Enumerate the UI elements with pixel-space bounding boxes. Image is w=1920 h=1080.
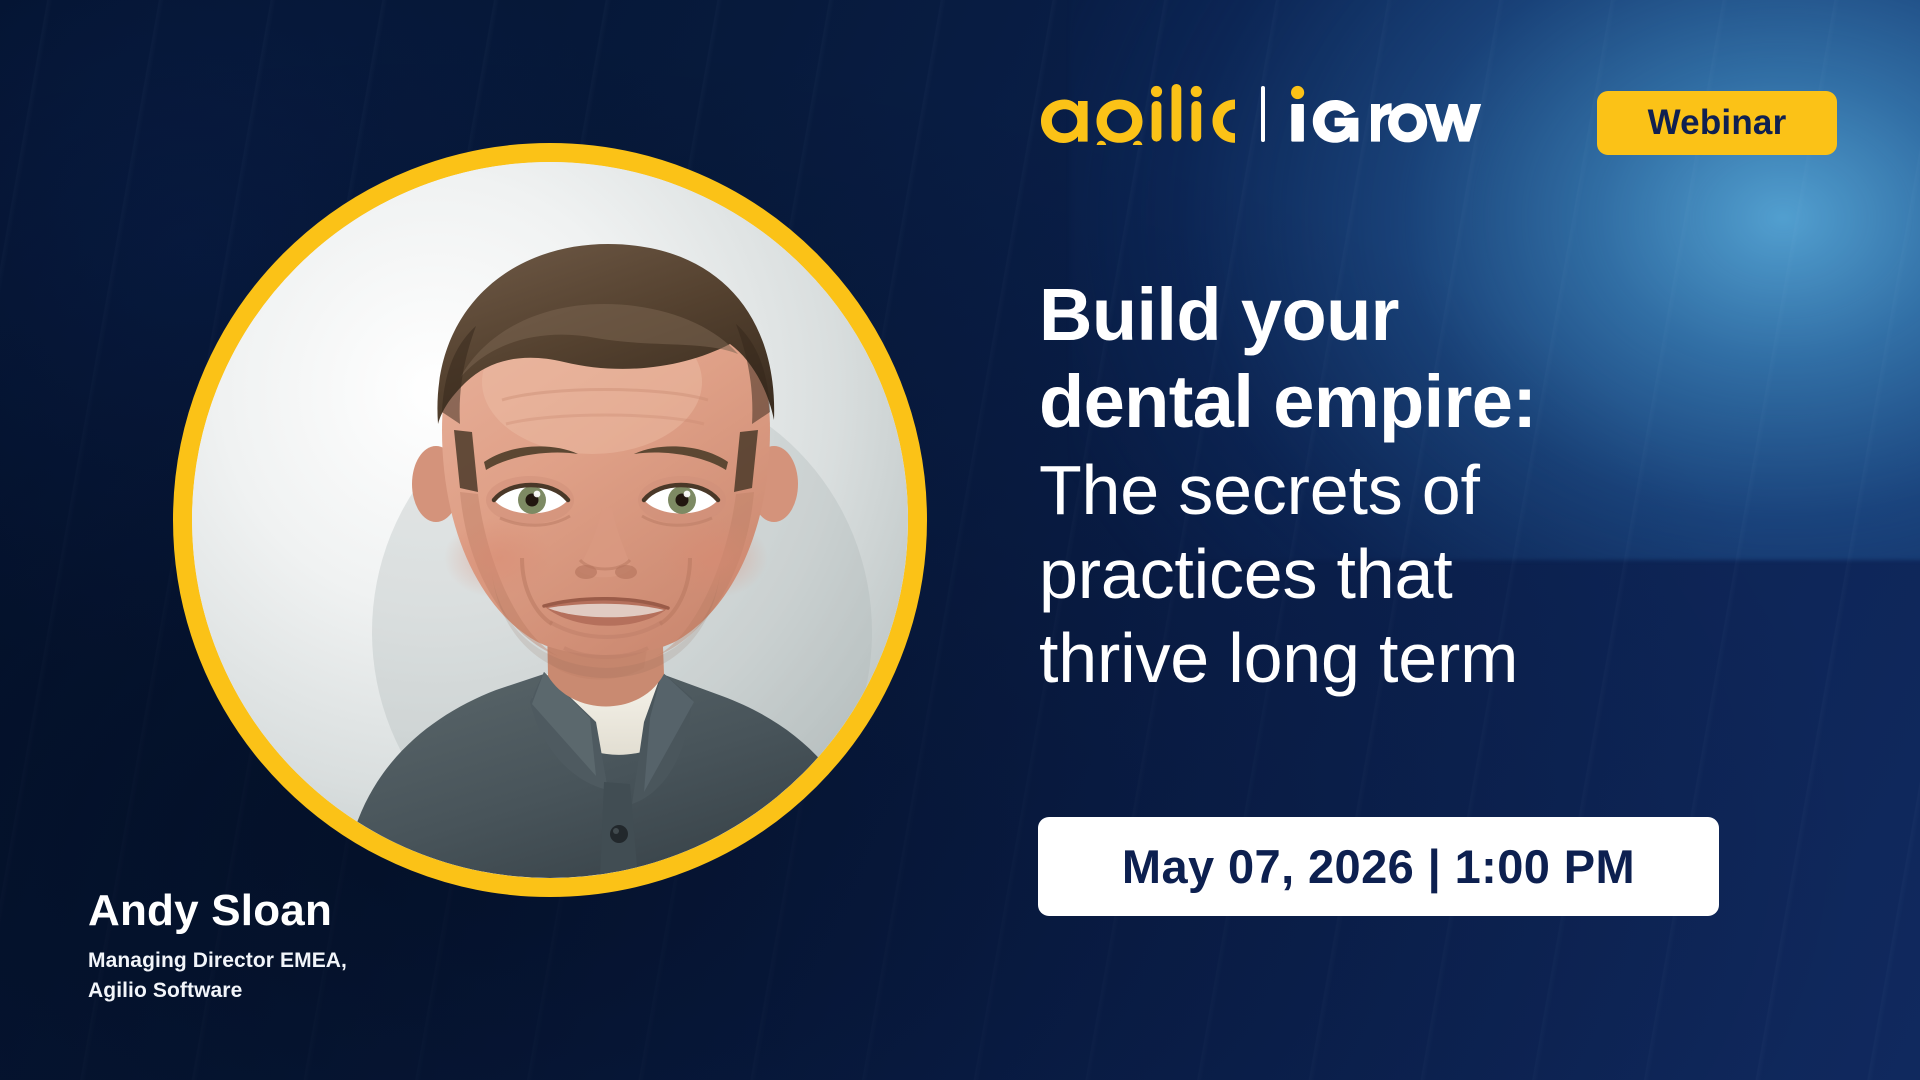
webinar-promo-canvas: Andy Sloan Managing Director EMEA, Agili… [0,0,1920,1080]
igrow-logo [1289,83,1483,145]
speaker-portrait-frame [173,143,927,897]
headline-line-1: Build your [1039,272,1829,359]
speaker-role-line-1: Managing Director EMEA, [88,946,648,976]
agilio-logo [1037,83,1235,145]
portrait-illustration [192,162,908,878]
portrait-photo [192,162,908,878]
headline-line-4: practices that [1039,534,1829,614]
speaker-name: Andy Sloan [88,888,648,934]
speaker-role-line-2: Agilio Software [88,976,648,1006]
headline-line-3: The secrets of [1039,450,1829,530]
brand-logo-lockup [1037,78,1483,150]
igrow-dot-icon [1291,86,1304,99]
date-time-banner: May 07, 2026 | 1:00 PM [1038,817,1719,916]
webinar-badge: Webinar [1597,91,1837,155]
speaker-info: Andy Sloan Managing Director EMEA, Agili… [88,888,648,1006]
headline-line-5: thrive long term [1039,618,1829,698]
date-time-text: May 07, 2026 | 1:00 PM [1122,839,1635,894]
headline-line-2: dental empire: [1039,359,1829,446]
webinar-badge-label: Webinar [1648,103,1787,143]
logo-divider-icon [1261,86,1265,142]
headline-block: Build your dental empire: The secrets of… [1039,272,1829,698]
